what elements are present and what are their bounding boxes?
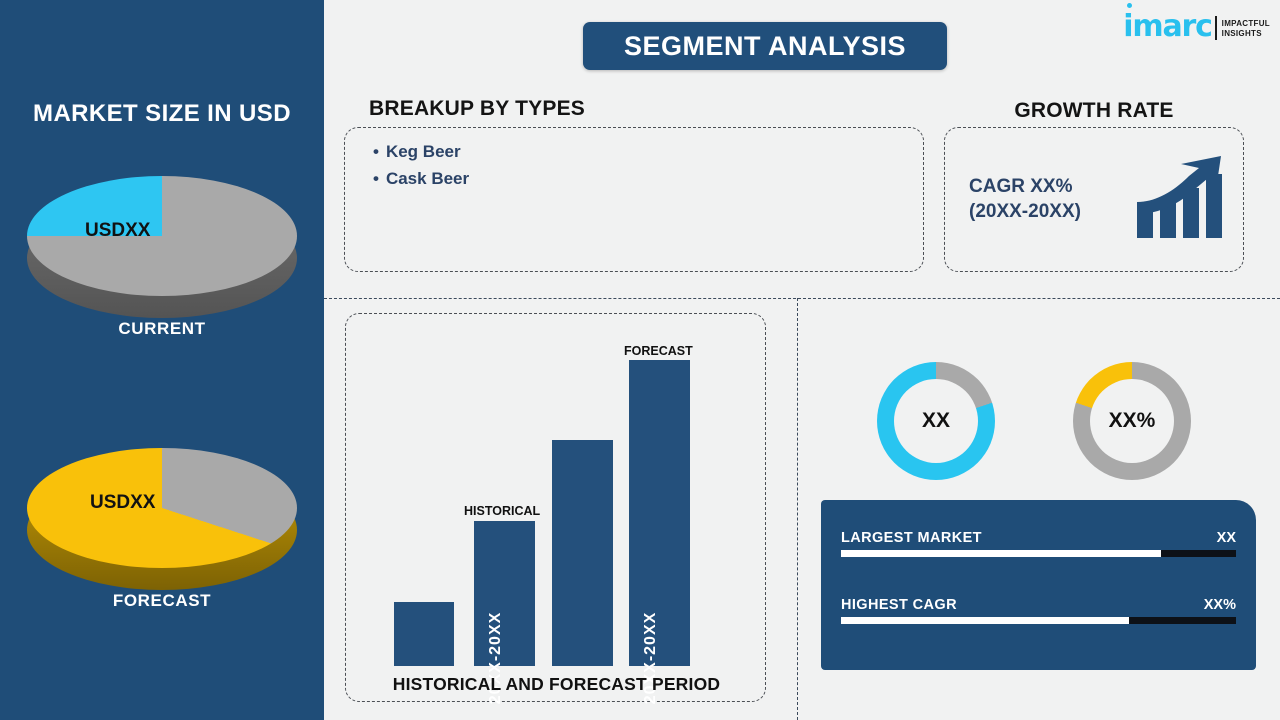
logo-tagline-line2: INSIGHTS xyxy=(1222,29,1270,39)
forecast-annotation: FORECAST xyxy=(624,344,693,358)
pie-3d-forecast: USDXX xyxy=(27,448,297,583)
metric-highest-cagr-track xyxy=(841,617,1236,624)
pie-forecast-caption: FORECAST xyxy=(0,591,324,611)
cagr-line1: CAGR XX% xyxy=(969,175,1149,200)
pie-current-caption: CURRENT xyxy=(0,319,324,339)
pie-forecast-top xyxy=(27,448,297,568)
cagr-text: CAGR XX% (20XX-20XX) xyxy=(969,175,1149,224)
pie-forecast-value: USDXX xyxy=(90,492,155,514)
horizontal-divider xyxy=(324,298,1280,299)
metric-largest-market-fill xyxy=(841,550,1161,557)
list-item: Cask Beer xyxy=(373,169,469,189)
pie-current-value: USDXX xyxy=(85,220,150,242)
imarc-logo: imarc IMPACTFUL INSIGHTS xyxy=(1123,12,1270,42)
logo-word-text: imarc xyxy=(1123,9,1211,44)
metric-largest-market-label: LARGEST MARKET xyxy=(841,530,982,546)
bar-3 xyxy=(552,440,613,666)
donut-2-center: XX% xyxy=(1090,379,1174,463)
breakup-by-types-box: Keg Beer Cask Beer xyxy=(344,127,924,272)
chart-caption: HISTORICAL AND FORECAST PERIOD xyxy=(346,674,767,695)
growth-rate-box: CAGR XX% (20XX-20XX) xyxy=(944,127,1244,272)
logo-divider xyxy=(1215,16,1217,40)
list-item: Keg Beer xyxy=(373,142,469,162)
vertical-divider xyxy=(797,298,798,720)
metric-largest-market-value: XX xyxy=(1217,530,1236,546)
bar-4: 20XX-20XX xyxy=(629,360,690,666)
historical-annotation: HISTORICAL xyxy=(464,504,540,518)
logo-wordmark: imarc xyxy=(1123,12,1211,42)
donut-chart-1: XX xyxy=(877,362,995,480)
metrics-panel: LARGEST MARKET XX HIGHEST CAGR XX% xyxy=(821,500,1256,670)
logo-tagline: IMPACTFUL INSIGHTS xyxy=(1222,19,1270,42)
metric-highest-cagr-label: HIGHEST CAGR xyxy=(841,597,957,613)
page-title: SEGMENT ANALYSIS xyxy=(583,22,947,70)
logo-tagline-line1: IMPACTFUL xyxy=(1222,19,1270,29)
current-pie-chart: USDXX CURRENT xyxy=(0,176,324,339)
donut-1-value: XX xyxy=(922,409,950,433)
metric-largest-market: LARGEST MARKET XX xyxy=(841,530,1236,557)
donut-1-center: XX xyxy=(894,379,978,463)
growth-arrow-bars-icon xyxy=(1135,156,1227,247)
pie-3d-current: USDXX xyxy=(27,176,297,311)
page-title-text: SEGMENT ANALYSIS xyxy=(624,31,906,62)
bar-1 xyxy=(394,602,454,666)
forecast-pie-chart: USDXX FORECAST xyxy=(0,448,324,611)
donut-chart-2: XX% xyxy=(1073,362,1191,480)
breakup-by-types-heading: BREAKUP BY TYPES xyxy=(369,97,585,121)
growth-rate-heading: GROWTH RATE xyxy=(944,99,1244,123)
segment-analysis-panel: SEGMENT ANALYSIS imarc IMPACTFUL INSIGHT… xyxy=(324,0,1280,720)
donut-2-value: XX% xyxy=(1109,409,1156,433)
sidebar-title: MARKET SIZE IN USD xyxy=(0,100,324,128)
metric-highest-cagr: HIGHEST CAGR XX% xyxy=(841,597,1236,624)
metric-highest-cagr-value: XX% xyxy=(1204,597,1236,613)
logo-dot-icon xyxy=(1127,3,1132,8)
bar-2: 20XX-20XX xyxy=(474,521,535,666)
pie-current-top xyxy=(27,176,297,296)
historical-forecast-chart: 20XX-20XX 20XX-20XX HISTORICAL FORECAST … xyxy=(345,313,766,702)
metric-highest-cagr-fill xyxy=(841,617,1129,624)
bar-chart: 20XX-20XX 20XX-20XX HISTORICAL FORECAST … xyxy=(346,314,767,703)
market-size-sidebar: MARKET SIZE IN USD USDXX CURRENT USDXX F… xyxy=(0,0,324,720)
cagr-line2: (20XX-20XX) xyxy=(969,200,1149,225)
metric-largest-market-track xyxy=(841,550,1236,557)
types-list: Keg Beer Cask Beer xyxy=(373,142,469,196)
